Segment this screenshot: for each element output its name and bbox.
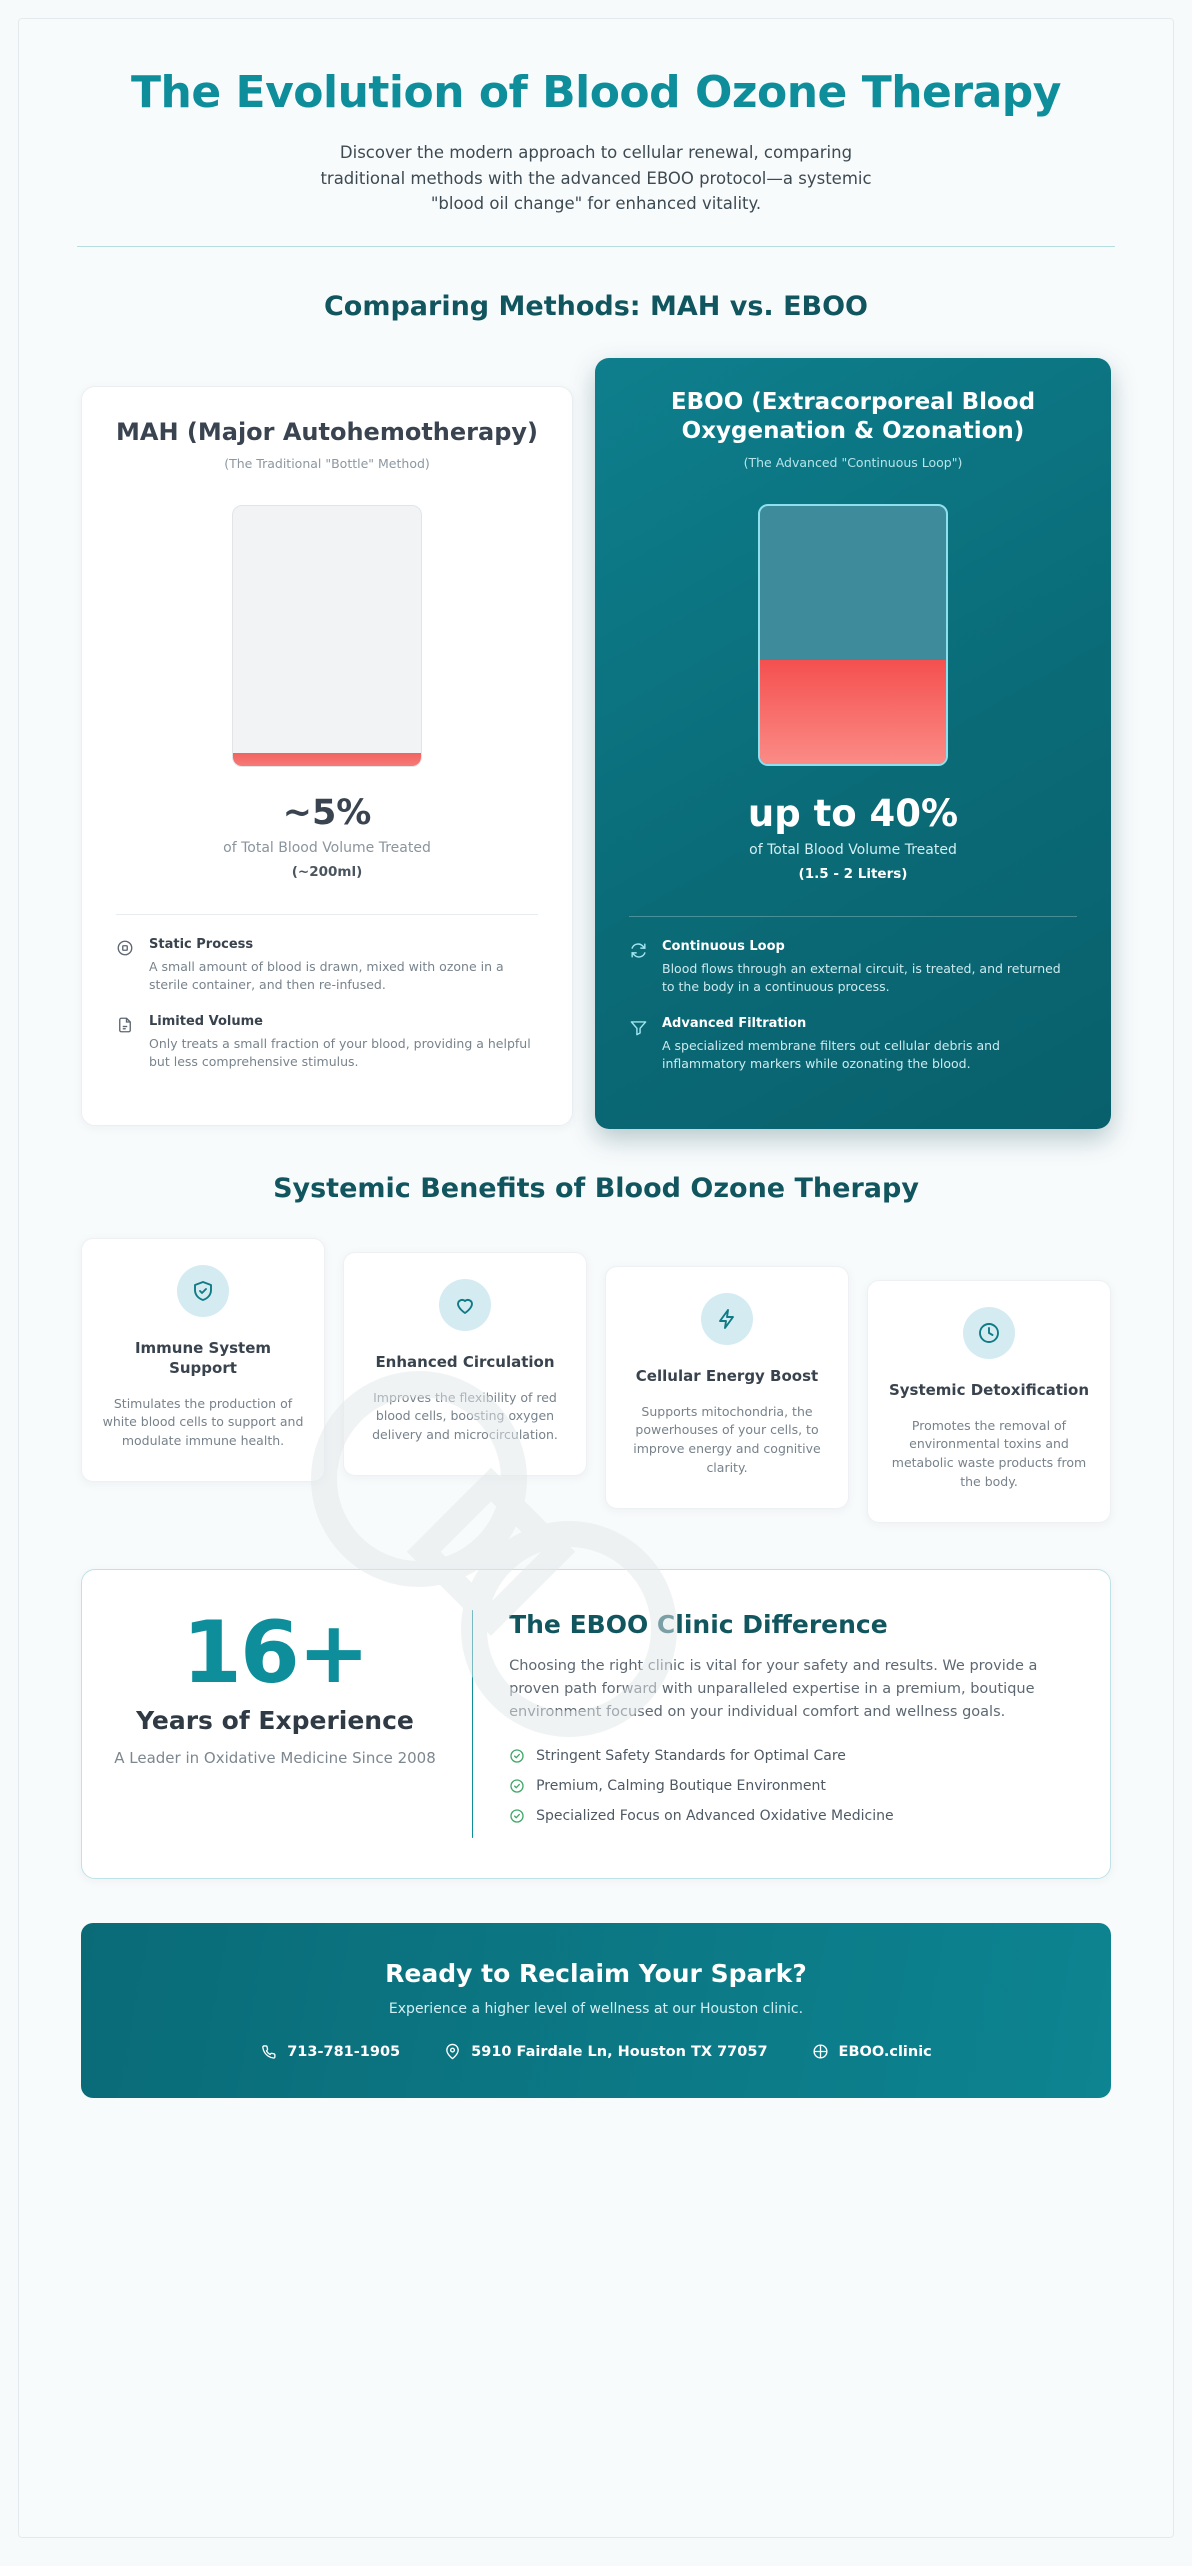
heart-icon	[439, 1279, 491, 1331]
experience-card: 16+ Years of Experience A Leader in Oxid…	[81, 1569, 1111, 1880]
header-divider	[77, 246, 1115, 247]
page-header: The Evolution of Blood Ozone Therapy Dis…	[19, 19, 1173, 216]
checklist-text: Specialized Focus on Advanced Oxidative …	[536, 1808, 894, 1824]
infographic-page: The Evolution of Blood Ozone Therapy Dis…	[0, 0, 1192, 2566]
experience-paragraph: Choosing the right clinic is vital for y…	[509, 1655, 1070, 1725]
mah-feature-static-process: Static Process A small amount of blood i…	[116, 937, 538, 994]
experience-years-label: Years of Experience	[112, 1706, 438, 1737]
eboo-blood-volume-vial	[758, 504, 948, 766]
experience-checklist: Stringent Safety Standards for Optimal C…	[509, 1748, 1070, 1824]
phone-icon	[260, 2043, 277, 2060]
eboo-vial-wrap	[629, 504, 1077, 766]
checklist-text: Stringent Safety Standards for Optimal C…	[536, 1748, 846, 1764]
cta-phone[interactable]: 713-781-1905	[260, 2043, 400, 2060]
page-title: The Evolution of Blood Ozone Therapy	[79, 67, 1113, 118]
experience-since-label: A Leader in Oxidative Medicine Since 200…	[112, 1748, 438, 1769]
checklist-text: Premium, Calming Boutique Environment	[536, 1778, 826, 1794]
cta-subheading: Experience a higher level of wellness at…	[111, 2001, 1081, 2017]
check-circle-icon	[509, 1748, 525, 1764]
mah-vial-wrap	[116, 505, 538, 767]
cta-contact-row: 713-781-1905 5910 Fairdale Ln, Houston T…	[111, 2043, 1081, 2060]
benefit-heading: Systemic Detoxification	[886, 1381, 1092, 1401]
benefits-cards: Immune System Support Stimulates the pro…	[19, 1204, 1173, 1523]
mah-card-title: MAH (Major Autohemotherapy)	[116, 417, 538, 447]
cta-address-label: 5910 Fairdale Ln, Houston TX 77057	[471, 2044, 767, 2060]
mah-stat-label: of Total Blood Volume Treated	[116, 840, 538, 856]
list-item: Specialized Focus on Advanced Oxidative …	[509, 1808, 1070, 1824]
clock-icon	[963, 1307, 1015, 1359]
mah-feature-text: Only treats a small fraction of your blo…	[149, 1035, 538, 1071]
benefit-card-immune-system-support: Immune System Support Stimulates the pro…	[81, 1238, 325, 1482]
lightning-bolt-icon	[701, 1293, 753, 1345]
globe-icon	[812, 2043, 829, 2060]
experience-heading: The EBOO Clinic Difference	[509, 1610, 1070, 1639]
mah-feature-heading: Limited Volume	[149, 1014, 538, 1031]
experience-number: 16+	[112, 1610, 438, 1696]
mah-feature-text: A small amount of blood is drawn, mixed …	[149, 958, 538, 994]
eboo-divider	[629, 916, 1077, 917]
eboo-stat-label: of Total Blood Volume Treated	[629, 842, 1077, 858]
benefit-heading: Immune System Support	[100, 1339, 306, 1379]
mah-stat-note: (~200ml)	[116, 864, 538, 880]
benefit-text: Stimulates the production of white blood…	[100, 1395, 306, 1451]
experience-stat: 16+ Years of Experience A Leader in Oxid…	[112, 1610, 472, 1839]
eboo-feature-heading: Advanced Filtration	[662, 1016, 1077, 1033]
eboo-feature-advanced-filtration: Advanced Filtration A specialized membra…	[629, 1016, 1077, 1073]
check-circle-icon	[509, 1778, 525, 1794]
cta-website-label: EBOO.clinic	[839, 2044, 932, 2060]
mah-card-subtitle: (The Traditional "Bottle" Method)	[116, 456, 538, 471]
cta-phone-label: 713-781-1905	[287, 2044, 400, 2060]
mah-divider	[116, 914, 538, 915]
list-item: Premium, Calming Boutique Environment	[509, 1778, 1070, 1794]
infographic-sheet: The Evolution of Blood Ozone Therapy Dis…	[18, 18, 1174, 2538]
mah-feature-limited-volume: Limited Volume Only treats a small fract…	[116, 1014, 538, 1071]
benefit-heading: Cellular Energy Boost	[624, 1367, 830, 1387]
benefits-section-title: Systemic Benefits of Blood Ozone Therapy	[19, 1173, 1173, 1204]
benefit-card-enhanced-circulation: Enhanced Circulation Improves the flexib…	[343, 1252, 587, 1476]
eboo-card-subtitle: (The Advanced "Continuous Loop")	[629, 455, 1077, 470]
experience-section: 16+ Years of Experience A Leader in Oxid…	[19, 1523, 1173, 1880]
list-item: Stringent Safety Standards for Optimal C…	[509, 1748, 1070, 1764]
cta-website[interactable]: EBOO.clinic	[812, 2043, 932, 2060]
eboo-fill-level	[760, 660, 946, 763]
benefit-text: Promotes the removal of environmental to…	[886, 1417, 1092, 1492]
document-icon	[116, 1014, 136, 1034]
cta-heading: Ready to Reclaim Your Spark?	[111, 1959, 1081, 1988]
cta-banner: Ready to Reclaim Your Spark? Experience …	[81, 1923, 1111, 2098]
compare-cards: MAH (Major Autohemotherapy) (The Traditi…	[19, 322, 1173, 1129]
eboo-feature-continuous-loop: Continuous Loop Blood flows through an e…	[629, 939, 1077, 996]
eboo-card-title: EBOO (Extracorporeal Blood Oxygenation &…	[629, 388, 1077, 446]
experience-details: The EBOO Clinic Difference Choosing the …	[473, 1610, 1070, 1839]
mah-fill-level	[233, 753, 421, 766]
funnel-icon	[629, 1016, 649, 1037]
benefit-text: Supports mitochondria, the powerhouses o…	[624, 1403, 830, 1478]
compare-section-title: Comparing Methods: MAH vs. EBOO	[19, 291, 1173, 322]
cta-address[interactable]: 5910 Fairdale Ln, Houston TX 77057	[444, 2043, 767, 2060]
mah-card: MAH (Major Autohemotherapy) (The Traditi…	[81, 386, 573, 1127]
eboo-feature-text: A specialized membrane filters out cellu…	[662, 1037, 1077, 1073]
cta-section: Ready to Reclaim Your Spark? Experience …	[19, 1879, 1173, 2098]
benefit-heading: Enhanced Circulation	[362, 1353, 568, 1373]
eboo-stat-note: (1.5 - 2 Liters)	[629, 866, 1077, 882]
mah-stat-value: ~5%	[116, 793, 538, 833]
stop-circle-icon	[116, 937, 136, 957]
eboo-feature-heading: Continuous Loop	[662, 939, 1077, 956]
refresh-loop-icon	[629, 939, 649, 960]
check-circle-icon	[509, 1808, 525, 1824]
eboo-card: EBOO (Extracorporeal Blood Oxygenation &…	[595, 358, 1111, 1129]
benefit-text: Improves the flexibility of red blood ce…	[362, 1389, 568, 1445]
eboo-stat-value: up to 40%	[629, 792, 1077, 835]
benefit-card-cellular-energy-boost: Cellular Energy Boost Supports mitochond…	[605, 1266, 849, 1509]
page-subtitle: Discover the modern approach to cellular…	[316, 140, 876, 215]
mah-blood-volume-vial	[232, 505, 422, 767]
shield-check-icon	[177, 1265, 229, 1317]
map-pin-icon	[444, 2043, 461, 2060]
mah-feature-heading: Static Process	[149, 937, 538, 954]
benefit-card-systemic-detoxification: Systemic Detoxification Promotes the rem…	[867, 1280, 1111, 1523]
eboo-feature-text: Blood flows through an external circuit,…	[662, 960, 1077, 996]
